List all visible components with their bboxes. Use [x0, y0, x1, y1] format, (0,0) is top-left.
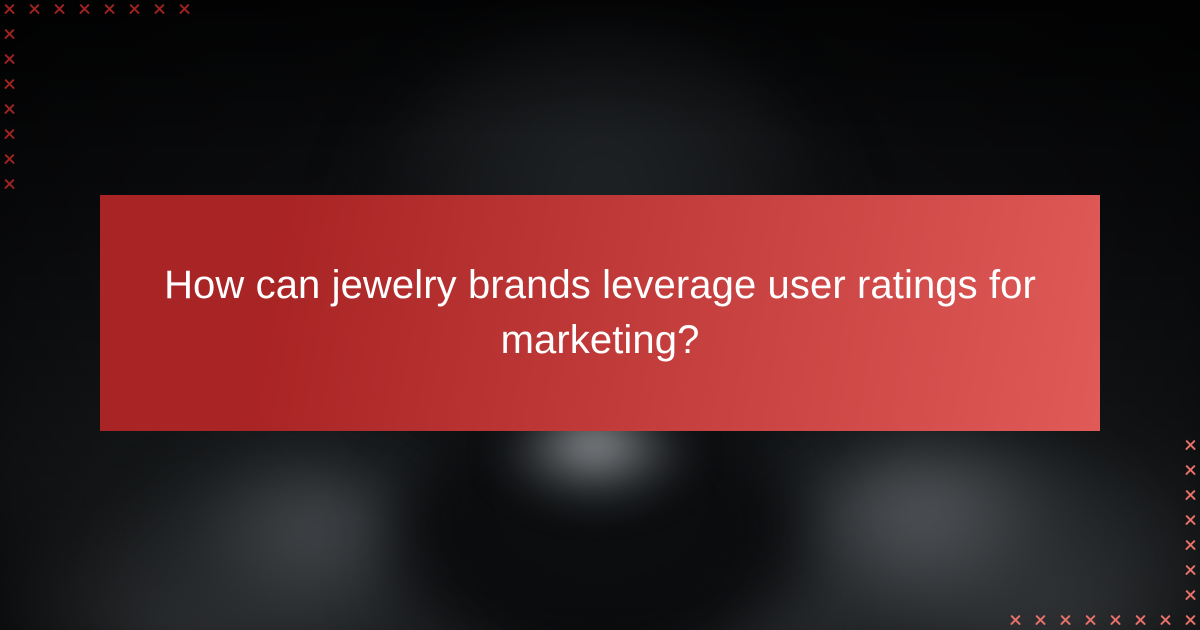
headline-banner: How can jewelry brands leverage user rat… [100, 195, 1100, 431]
social-card: How can jewelry brands leverage user rat… [0, 0, 1200, 630]
headline-title: How can jewelry brands leverage user rat… [160, 258, 1040, 368]
